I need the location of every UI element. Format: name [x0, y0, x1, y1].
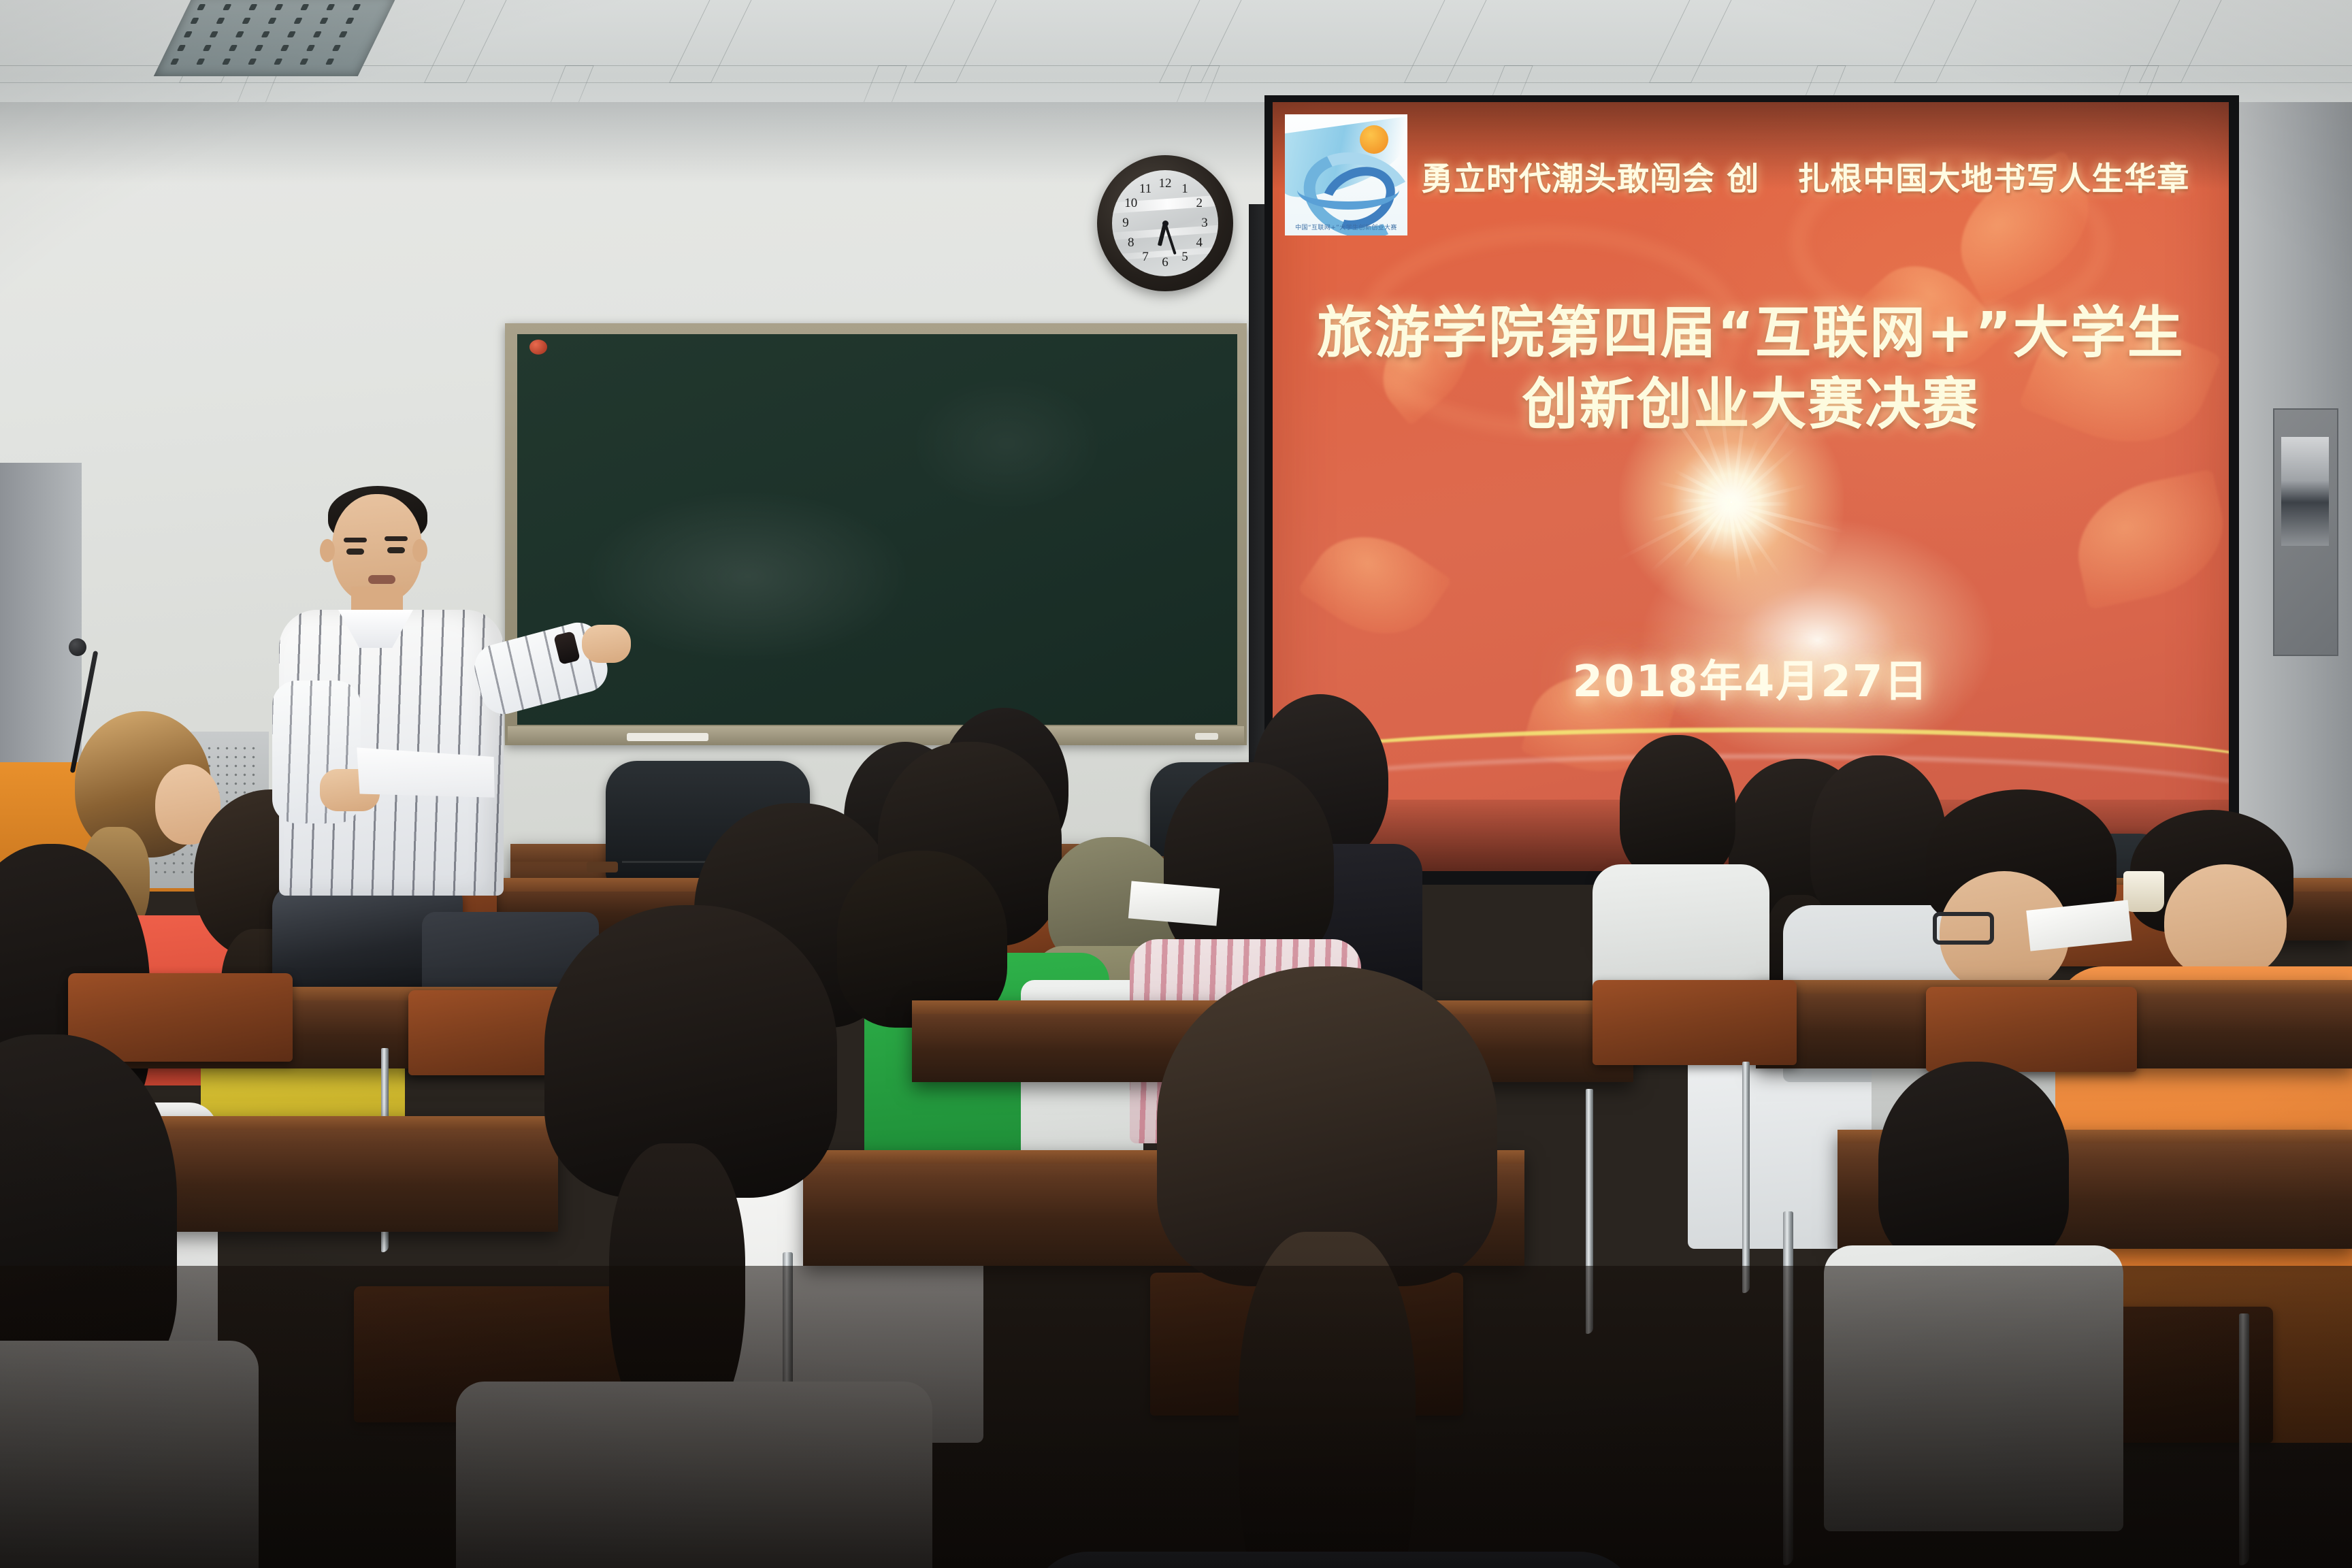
clock-numeral: 10: [1124, 196, 1139, 211]
clock-numeral: 5: [1177, 250, 1192, 265]
clock-numeral: 11: [1138, 182, 1153, 197]
student-chair[interactable]: [1592, 980, 1797, 1065]
clock-numeral: 8: [1124, 235, 1139, 250]
student-chair[interactable]: [1926, 987, 2137, 1072]
blackboard: [505, 323, 1247, 745]
clock-numeral: 4: [1192, 235, 1207, 250]
slide-title-line1: 旅游学院第四届“互联网+”大学生: [1273, 298, 2229, 370]
clock-numeral: 6: [1158, 255, 1173, 270]
slide-date: 2018年4月27日: [1273, 647, 2229, 709]
clock-numeral: 3: [1197, 216, 1212, 231]
clock-numeral: 9: [1118, 216, 1133, 231]
classroom-scene: 121234567891011 中国“互联网+”大学生创新创业大: [0, 0, 2352, 1568]
magnet-icon: [529, 340, 547, 355]
paper-cup: [2123, 871, 2164, 912]
clock-numeral: 1: [1177, 182, 1192, 197]
banner-right-text: 扎根中国大地书写人生华章: [1797, 161, 2189, 198]
glasses-icon: [1933, 912, 1994, 945]
wall-clock: 121234567891011: [1097, 155, 1233, 291]
clock-numeral: 12: [1158, 176, 1173, 191]
competition-logo: 中国“互联网+”大学生创新创业大赛: [1285, 114, 1407, 235]
chalk-stick: [1195, 733, 1218, 740]
papers: [1128, 881, 1220, 926]
logo-caption: 中国“互联网+”大学生创新创业大赛: [1285, 223, 1407, 231]
mouth: [368, 575, 395, 584]
banner-left-text: 勇立时代潮头敢闯会 创: [1421, 161, 1759, 198]
blackboard-surface: [517, 334, 1237, 725]
chalk-tray: [508, 726, 1244, 745]
wall-mounted-notice-panel[interactable]: [2273, 408, 2338, 656]
sunburst-glow: [1619, 390, 1844, 615]
hvac-vent-grille: [154, 0, 398, 76]
chair-leg: [1742, 1062, 1750, 1293]
microphone-icon: [69, 638, 86, 656]
clock-numeral: 7: [1138, 250, 1153, 265]
clock-numeral: 2: [1192, 196, 1207, 211]
hand: [582, 625, 631, 663]
sun-icon: [1360, 125, 1388, 154]
chalk-stick: [627, 733, 708, 741]
projection-screen: 中国“互联网+”大学生创新创业大赛 勇立时代潮头敢闯会 创扎根中国大地书写人生华…: [1273, 102, 2229, 871]
slide-banner: 勇立时代潮头敢闯会 创扎根中国大地书写人生华章: [1421, 152, 2217, 199]
